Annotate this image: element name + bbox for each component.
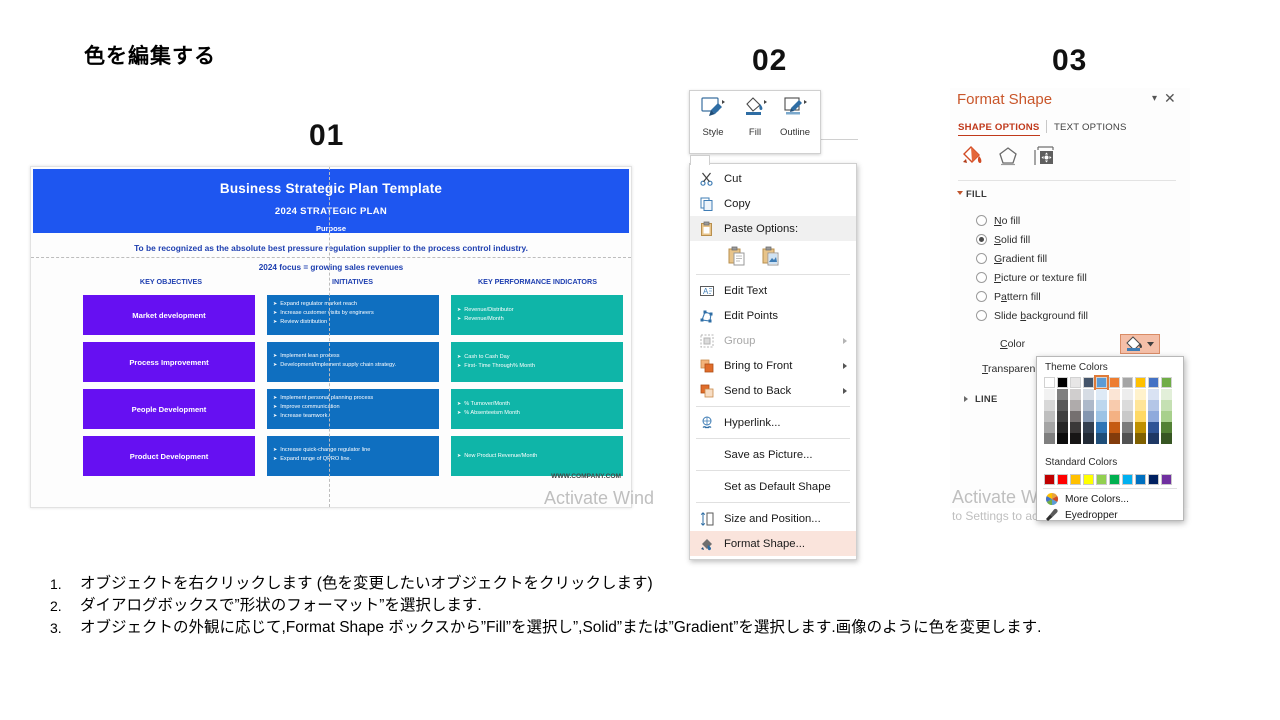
bullet: Increase quick-change regulator line [273,446,433,455]
theme-tint-swatch[interactable] [1070,389,1081,400]
edit-text-icon: A [699,283,715,299]
theme-tint-swatch[interactable] [1044,433,1055,444]
more-colors-label: More Colors... [1065,494,1129,505]
bullet: Implement lean process [273,352,433,361]
menu-separator [696,274,850,275]
radio-solid-fill[interactable]: Solid fill [976,230,1030,249]
fill-button-label: Fill [734,127,776,138]
theme-color-swatch[interactable] [1096,377,1107,388]
edit-points-icon [699,308,715,324]
list-item: 1. オブジェクトを右クリックします (色を変更したいオブジェクトをクリックしま… [44,574,1259,594]
menu-item-set-as-default-shape[interactable]: Set as Default Shape [690,474,856,499]
step-number-03: 03 [1052,44,1087,78]
list-item: 3. オブジェクトの外観に応じて,Format Shape ボックスから”Fil… [44,618,1259,638]
menu-separator [696,438,850,439]
theme-tint-swatch[interactable] [1135,389,1146,400]
menu-separator [696,406,850,407]
standard-color-swatch[interactable] [1161,474,1172,485]
objective-cell: Product Development [83,436,255,476]
bullet: Expand regulator market reach [273,300,433,309]
scissors-icon [699,171,715,187]
pane-divider [958,180,1176,181]
theme-tint-swatch[interactable] [1109,433,1120,444]
radio-label: No fill [994,215,1020,227]
theme-tint-swatch[interactable] [1109,389,1120,400]
theme-tint-swatch[interactable] [1135,422,1146,433]
fill-section-header[interactable]: FILL [966,188,987,199]
theme-tint-swatch[interactable] [1161,389,1172,400]
menu-item-size-and-position[interactable]: Size and Position... [690,506,856,531]
effects-icon[interactable] [996,144,1020,168]
size-and-properties-icon[interactable] [1032,144,1056,168]
menu-item-format-shape[interactable]: Format Shape... [690,531,856,556]
paste-picture-button[interactable] [758,244,782,268]
chevron-down-icon[interactable]: ▾ [1152,93,1157,104]
menu-item-label: Set as Default Shape [724,481,831,493]
menu-item-label: Size and Position... [724,513,821,525]
clipboard-icon [699,221,715,237]
tab-divider [1046,120,1047,133]
theme-tint-swatch[interactable] [1083,400,1094,411]
table-row: Product Development Increase quick-chang… [31,436,631,476]
initiatives-cell: Implement lean process Development/Imple… [267,342,439,382]
slide-purpose-label: Purpose [33,224,629,233]
color-label: Color [1000,338,1025,350]
dropdown-divider [1043,488,1177,489]
color-dropdown[interactable]: Theme Colors Standard Colors More Colors… [1036,356,1184,521]
menu-item-paste-options[interactable]: Paste Options: [690,216,856,241]
radio-icon [976,272,987,283]
theme-color-swatch[interactable] [1109,377,1120,388]
theme-color-swatch[interactable] [1057,377,1068,388]
objective-cell: Market development [83,295,255,335]
column-header-objectives: KEY OBJECTIVES [81,277,261,286]
size-position-icon [699,511,715,527]
standard-color-swatch[interactable] [1096,474,1107,485]
standard-color-swatch[interactable] [1148,474,1159,485]
standard-color-swatch[interactable] [1109,474,1120,485]
menu-separator [696,470,850,471]
column-header-kpi: KEY PERFORMANCE INDICATORS [445,277,630,286]
fill-button[interactable]: Fill [734,95,776,138]
slide-title-bold: Strategic Plan Template [285,181,442,196]
theme-tint-swatch[interactable] [1148,433,1159,444]
theme-tint-swatch[interactable] [1044,411,1055,422]
tab-text-options[interactable]: TEXT OPTIONS [1054,122,1127,133]
standard-color-swatch[interactable] [1044,474,1055,485]
menu-item-label: Cut [724,173,742,185]
theme-tint-swatch[interactable] [1044,400,1055,411]
column-header-initiatives: INITIATIVES [265,277,440,286]
theme-tint-swatch[interactable] [1135,400,1146,411]
initiatives-cell: Expand regulator market reach Increase c… [267,295,439,335]
chevron-right-icon [843,388,847,394]
theme-tint-swatch[interactable] [1135,433,1146,444]
theme-tint-swatch[interactable] [1148,411,1159,422]
hyperlink-icon [699,415,715,431]
kpi-cell: Revenue/Distributor Revenue/Month [451,295,623,335]
list-item: 2. ダイアログボックスで”形状のフォーマット”を選択します. [44,596,1259,616]
theme-tint-swatch[interactable] [1096,422,1107,433]
standard-color-swatch[interactable] [1122,474,1133,485]
theme-tint-swatch[interactable] [1161,422,1172,433]
chevron-right-icon [843,338,847,344]
theme-color-swatch[interactable] [1148,377,1159,388]
guide-line-horizontal [31,257,631,258]
transparency-label: Transparen [982,363,1035,375]
fill-bucket-icon [740,108,770,125]
menu-item-send-to-back[interactable]: Send to Back [690,378,856,403]
bring-front-icon [699,358,715,374]
theme-tint-swatch[interactable] [1057,422,1068,433]
theme-tint-swatch[interactable] [1148,422,1159,433]
eyedropper-option[interactable]: Eyedropper [1045,508,1118,522]
bullet: % Turnover/Month [457,400,617,409]
radio-gradient-fill[interactable]: Gradient fill [976,249,1047,268]
radio-icon [976,310,987,321]
eyedropper-label: Eyedropper [1065,510,1118,521]
menu-item-label: Hyperlink... [724,417,781,429]
theme-color-swatch[interactable] [1135,377,1146,388]
slide-screenshot: Business Strategic Plan Template 2024 ST… [30,166,632,508]
menu-item-edit-points[interactable]: Edit Points [690,303,856,328]
list-item-text: オブジェクトの外観に応じて,Format Shape ボックスから”Fill”を… [80,618,1259,638]
menu-item-label: Format Shape... [724,538,805,550]
theme-tint-swatch[interactable] [1109,400,1120,411]
collapse-triangle-icon[interactable] [957,191,963,195]
theme-color-swatch[interactable] [1044,377,1055,388]
list-item-number: 1. [50,574,62,594]
radio-icon [976,215,987,226]
outline-button-label: Outline [774,127,816,138]
menu-item-label: Bring to Front [724,360,792,372]
theme-tint-swatch[interactable] [1096,389,1107,400]
list-item-text: オブジェクトを右クリックします (色を変更したいオブジェクトをクリックします) [80,574,1259,594]
theme-colors-label: Theme Colors [1045,362,1108,373]
radio-icon-selected [976,234,987,245]
color-picker-button[interactable] [1120,334,1160,354]
menu-item-hyperlink[interactable]: Hyperlink... [690,410,856,435]
theme-color-swatch[interactable] [1070,377,1081,388]
context-menu[interactable]: Cut Copy Paste Options: [689,163,857,560]
standard-color-swatch[interactable] [1135,474,1146,485]
initiatives-cell: Increase quick-change regulator line Exp… [267,436,439,476]
radio-label: Pattern fill [994,291,1041,303]
theme-tint-swatch[interactable] [1109,422,1120,433]
tab-shape-options[interactable]: SHAPE OPTIONS [958,122,1040,136]
bullet: Development/Implement supply chain strat… [273,361,433,370]
theme-color-swatch[interactable] [1122,377,1133,388]
theme-tint-swatch[interactable] [1057,433,1068,444]
theme-tint-swatch[interactable] [1070,411,1081,422]
kpi-cell: % Turnover/Month % Absenteeism Month [451,389,623,429]
theme-tint-swatch[interactable] [1161,400,1172,411]
menu-item-label: Send to Back [724,385,791,397]
theme-tint-swatch[interactable] [1070,433,1081,444]
bullet: New Product Revenue/Month [457,452,617,461]
step-number-02: 02 [752,44,787,78]
theme-tint-swatch[interactable] [1161,433,1172,444]
more-colors-icon [1045,492,1059,506]
theme-tint-swatch[interactable] [1057,389,1068,400]
theme-colors-grid[interactable] [1044,377,1174,444]
theme-tint-swatch[interactable] [1070,422,1081,433]
bullet: Implement personal planning process [273,394,433,403]
slide-subtitle: 2024 STRATEGIC PLAN [33,206,629,217]
theme-tint-swatch[interactable] [1096,433,1107,444]
theme-tint-swatch[interactable] [1083,422,1094,433]
table-row: People Development Implement personal pl… [31,389,631,429]
context-menu-tab [690,155,710,165]
close-icon[interactable]: ✕ [1164,90,1176,107]
menu-item-label: Edit Points [724,310,778,322]
theme-tint-swatch[interactable] [1122,422,1133,433]
radio-label: Gradient fill [994,253,1047,265]
shape-style-icon [698,108,728,125]
slide-focus-text: 2024 focus = growing sales revenues [33,259,629,277]
line-section-header[interactable]: LINE [975,393,998,404]
bullet: Increase teamwork. [273,412,433,421]
outline-pen-icon [780,108,810,125]
more-colors-option[interactable]: More Colors... [1045,492,1129,506]
list-item-number: 2. [50,596,62,616]
objective-cell: Process Improvement [83,342,255,382]
step-number-01: 01 [309,119,344,153]
menu-item-label: Group [724,335,755,347]
list-item-number: 3. [50,618,62,638]
menu-item-label: Edit Text [724,285,767,297]
slide-purpose-text: To be recognized as the absolute best pr… [33,239,629,257]
guide-line-vertical [329,167,330,507]
menu-item-label: Copy [724,198,750,210]
table-row: Process Improvement Implement lean proce… [31,342,631,382]
kpi-cell: Cash to Cash Day First- Time Through% Mo… [451,342,623,382]
menu-item-label: Save as Picture... [724,449,813,461]
list-item-text: ダイアログボックスで”形状のフォーマット”を選択します. [80,596,1259,616]
theme-tint-swatch[interactable] [1122,433,1133,444]
slide-title: Business Strategic Plan Template [33,181,629,196]
chevron-right-icon [843,363,847,369]
menu-item-group[interactable]: Group [690,328,856,353]
menu-item-label: Paste Options: [724,223,798,235]
theme-color-swatch[interactable] [1083,377,1094,388]
format-shape-icon [699,536,715,552]
format-pane-icon-row[interactable] [958,144,1178,168]
theme-tint-swatch[interactable] [1122,389,1133,400]
paste-keep-formatting-button[interactable] [724,244,748,268]
send-back-icon [699,383,715,399]
radio-label: Solid fill [994,234,1030,246]
fill-and-line-icon[interactable] [960,144,984,168]
radio-label: Picture or texture fill [994,272,1087,284]
bullet: % Absenteeism Month [457,409,617,418]
menu-item-bring-to-front[interactable]: Bring to Front [690,353,856,378]
slide-column-headers: KEY OBJECTIVES INITIATIVES KEY PERFORMAN… [33,277,629,295]
theme-tint-swatch[interactable] [1135,411,1146,422]
svg-text:A: A [703,287,709,296]
toolbar-connector-line [818,139,858,140]
table-row: Market development Expand regulator mark… [31,295,631,335]
copy-icon [699,196,715,212]
menu-item-save-as-picture[interactable]: Save as Picture... [690,442,856,467]
theme-tint-swatch[interactable] [1057,411,1068,422]
group-icon [699,333,715,349]
theme-tint-swatch[interactable] [1083,389,1094,400]
menu-item-copy[interactable]: Copy [690,191,856,216]
standard-color-swatch[interactable] [1057,474,1068,485]
standard-color-swatch[interactable] [1070,474,1081,485]
radio-slide-background-fill[interactable]: Slide background fill [976,306,1088,325]
theme-tint-swatch[interactable] [1044,389,1055,400]
instructions-list: 1. オブジェクトを右クリックします (色を変更したいオブジェクトをクリックしま… [44,574,1259,640]
initiatives-cell: Implement personal planning process Impr… [267,389,439,429]
theme-tint-swatch[interactable] [1161,411,1172,422]
bullet: Increase customer visits by engineers [273,309,433,318]
bullet: Cash to Cash Day [457,353,617,362]
menu-item-cut[interactable]: Cut [690,166,856,191]
slide-header-band: Business Strategic Plan Template 2024 ST… [33,169,629,233]
objective-cell: People Development [83,389,255,429]
expand-triangle-icon[interactable] [964,396,968,402]
theme-tint-swatch[interactable] [1122,400,1133,411]
style-button-label: Style [692,127,734,138]
bullet: First- Time Through% Month [457,362,617,371]
page-title: 色を編集する [84,40,216,70]
theme-tint-swatch[interactable] [1044,422,1055,433]
bullet: Review distribution [273,318,433,327]
theme-color-swatch[interactable] [1161,377,1172,388]
radio-icon [976,253,987,264]
bullet: Improve communication [273,403,433,412]
theme-tint-swatch[interactable] [1083,433,1094,444]
theme-tint-swatch[interactable] [1083,411,1094,422]
radio-picture-or-texture-fill[interactable]: Picture or texture fill [976,268,1087,287]
radio-no-fill[interactable]: No fill [976,211,1020,230]
bullet: Expand range of QPRO line. [273,455,433,464]
theme-tint-swatch[interactable] [1096,411,1107,422]
theme-tint-swatch[interactable] [1109,411,1120,422]
standard-colors-label: Standard Colors [1045,457,1117,468]
theme-tint-swatch[interactable] [1057,400,1068,411]
mini-toolbar[interactable]: Style Fill Outline [689,90,821,154]
slide-footer-url: WWW.COMPANY.COM [551,473,621,480]
radio-icon [976,291,987,302]
slide-title-plain: Business [220,181,286,196]
theme-tint-swatch[interactable] [1122,411,1133,422]
theme-tint-swatch[interactable] [1070,400,1081,411]
theme-tint-swatch[interactable] [1096,400,1107,411]
eyedropper-icon [1045,508,1059,522]
style-button[interactable]: Style [692,95,734,138]
menu-separator [696,502,850,503]
outline-button[interactable]: Outline [774,95,816,138]
paste-options-row[interactable] [690,241,856,271]
bullet: Revenue/Distributor [457,306,617,315]
kpi-cell: New Product Revenue/Month [451,436,623,476]
theme-tint-swatch[interactable] [1148,400,1159,411]
format-shape-title: Format Shape [957,91,1052,108]
menu-item-edit-text[interactable]: A Edit Text [690,278,856,303]
radio-label: Slide background fill [994,310,1088,322]
theme-tint-swatch[interactable] [1148,389,1159,400]
bullet: Revenue/Month [457,315,617,324]
standard-color-swatch[interactable] [1083,474,1094,485]
radio-pattern-fill[interactable]: Pattern fill [976,287,1041,306]
